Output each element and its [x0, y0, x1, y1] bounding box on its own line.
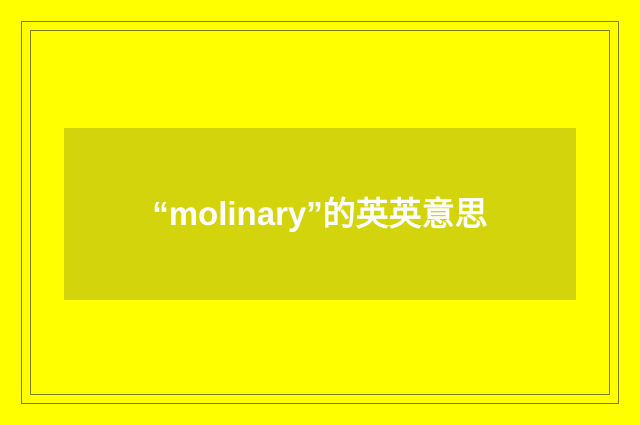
page-canvas: “molinary”的英英意思: [0, 0, 640, 425]
page-title: “molinary”的英英意思: [152, 184, 488, 244]
title-card: “molinary”的英英意思: [64, 128, 576, 300]
